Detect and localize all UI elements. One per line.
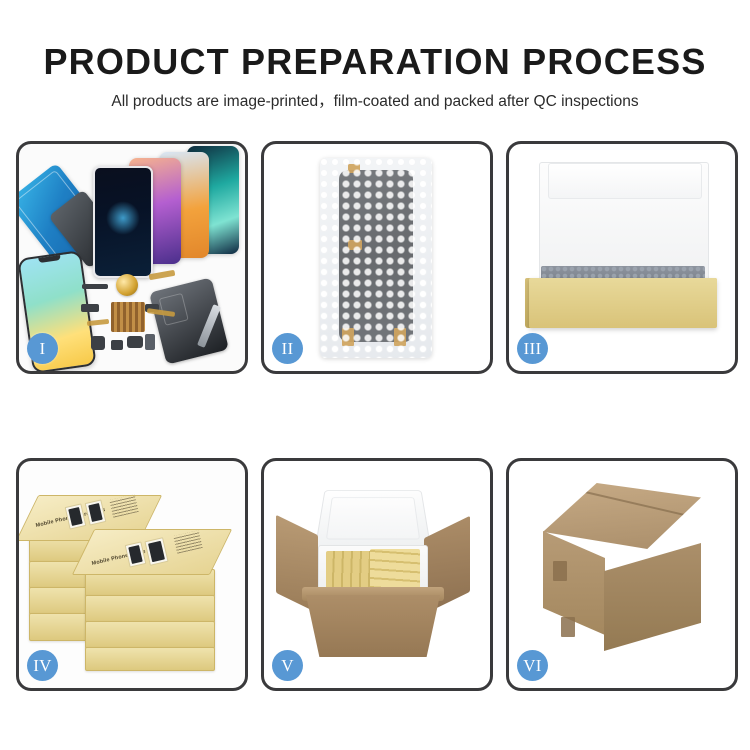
stack-box-right-2: [85, 595, 215, 623]
step-badge-6: VI: [517, 650, 548, 681]
step-badge-1: I: [27, 333, 58, 364]
phone-backplate: [149, 277, 229, 364]
sealed-carton: [523, 483, 723, 663]
part-connector: [81, 304, 99, 312]
step-badge-4: IV: [27, 650, 58, 681]
stack-box-right-4: [85, 647, 215, 671]
step-card-1[interactable]: I: [16, 141, 248, 374]
carton-top-panel: [543, 483, 701, 549]
box-front-panel: [529, 278, 717, 328]
wireless-coil-part: [116, 274, 138, 296]
phone-glass-screen: [93, 166, 153, 278]
carton-tape-upper: [553, 561, 567, 581]
stack-box-right-3: [85, 621, 215, 649]
carton-front-panel: [306, 595, 440, 657]
step-card-2[interactable]: II: [261, 141, 493, 374]
step-badge-3: III: [517, 333, 548, 364]
bubble-wrap-package: [320, 158, 432, 358]
part-bracket: [111, 340, 123, 350]
inner-box: [525, 158, 721, 350]
page-subtitle: All products are image-printed，film-coat…: [0, 94, 750, 110]
part-camera: [91, 336, 105, 350]
foam-sheet-fold: [548, 163, 702, 199]
styrofoam-lid: [315, 490, 432, 549]
carton-top-seam: [585, 491, 702, 520]
step-card-3[interactable]: III: [506, 141, 738, 374]
steps-grid: I II: [16, 141, 734, 736]
part-sim-tray: [145, 334, 155, 350]
carton-tape-lower: [561, 617, 575, 637]
carton-right-panel: [604, 543, 701, 651]
page-title: PRODUCT PREPARATION PROCESS: [0, 44, 750, 80]
product-preparation-infographic: PRODUCT PREPARATION PROCESS All products…: [0, 0, 750, 750]
part-flex-cable-3: [87, 319, 109, 326]
header: PRODUCT PREPARATION PROCESS All products…: [0, 0, 750, 110]
part-module: [127, 336, 143, 348]
step-badge-2: II: [272, 333, 303, 364]
chip-board-part: [111, 302, 145, 332]
open-carton: [272, 471, 484, 671]
part-speaker: [82, 284, 108, 289]
box-stack: Mobile Phone Spare Parts Mobile Phone Sp…: [25, 477, 239, 667]
step-card-4[interactable]: Mobile Phone Spare Parts Mobile Phone Sp…: [16, 458, 248, 691]
bubble-texture: [320, 158, 432, 358]
step-badge-5: V: [272, 650, 303, 681]
step-card-5[interactable]: V: [261, 458, 493, 691]
step-card-6[interactable]: VI: [506, 458, 738, 691]
